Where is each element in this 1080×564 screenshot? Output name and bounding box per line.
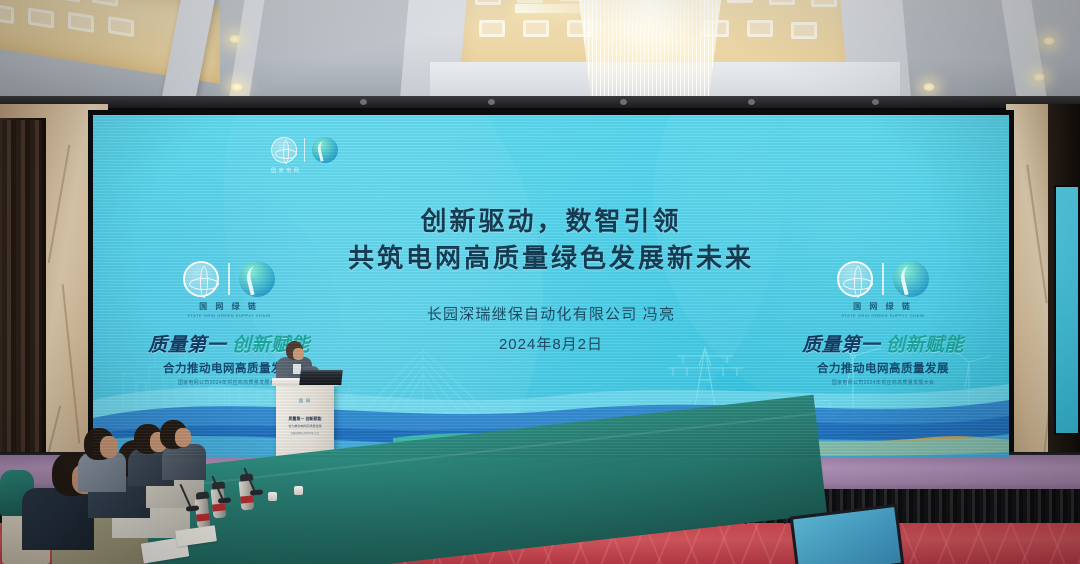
ceiling-rail (0, 96, 1080, 108)
banner-right-headline-part1: 质量第一 (802, 335, 880, 356)
banner-left-mark: 国 网 绿 链 (119, 301, 339, 312)
led-screen: 国 家 电 网 创新驱动，数智引领 共筑电网高质量绿色发展新未来 长园深瑞继保自… (88, 110, 1014, 462)
downlight (922, 82, 936, 92)
state-grid-globe-icon (271, 137, 297, 163)
logo-divider (228, 263, 230, 295)
state-grid-globe-icon (837, 261, 873, 297)
logo-divider (304, 138, 305, 162)
presentation-slide: 国 家 电 网 创新驱动，数智引领 共筑电网高质量绿色发展新未来 长园深瑞继保自… (93, 115, 1009, 457)
banner-left-logos (119, 261, 339, 297)
green-chain-s-icon (893, 261, 929, 297)
slide-title-line-1: 创新驱动，数智引领 (93, 203, 1009, 240)
banner-right-mark-sub: STATE GRID GREEN SUPPLY CHAIN (773, 313, 993, 318)
thermos-cap (196, 491, 210, 499)
state-grid-globe-icon (183, 261, 219, 297)
banner-right: 国 网 绿 链 STATE GRID GREEN SUPPLY CHAIN 质量… (773, 261, 993, 386)
green-chain-s-icon (239, 261, 275, 297)
ceiling (0, 0, 1080, 108)
banner-right-fine-print: 国家电网公司2024年供应商高质量发展大会 (773, 379, 993, 386)
green-chain-s-icon (312, 137, 338, 163)
banner-right-headline: 质量第一 创新赋能 (773, 330, 993, 357)
slide-header-logos (271, 137, 338, 163)
podium-sign: 国 网 质量第一 创新赋能 合力推动电网高质量发展 国家电网公司2024年大会 (284, 398, 326, 435)
downlight (1042, 36, 1056, 46)
teacup (294, 486, 303, 495)
ceiling-beam (1000, 0, 1051, 108)
banner-right-mark: 国 网 绿 链 (773, 301, 993, 312)
presenter-laptop (299, 370, 343, 385)
banner-left-headline-part1: 质量第一 (148, 335, 226, 356)
conference-hall-photo: 国 家 电 网 创新驱动，数智引领 共筑电网高质量绿色发展新未来 长园深瑞继保自… (0, 0, 1080, 564)
chandelier-glow (600, 0, 700, 64)
downlight (1032, 72, 1046, 82)
thermos-cap (240, 473, 254, 481)
podium-title-text: 质量第一 创新赋能 (284, 416, 326, 422)
downlight (230, 82, 244, 92)
speaker-face (293, 348, 304, 360)
podium-sub-text: 合力推动电网高质量发展 (284, 424, 326, 428)
right-screen-panel (1054, 185, 1080, 435)
banner-right-logos (773, 261, 993, 297)
banner-right-headline-part2: 创新赋能 (886, 335, 964, 356)
podium-logo-text: 国 网 (284, 398, 326, 404)
banner-left-mark-sub: STATE GRID GREEN SUPPLY CHAIN (119, 313, 339, 318)
downlight (228, 34, 242, 44)
teacup (268, 492, 277, 501)
ceiling-beam (226, 0, 266, 108)
podium-fine-text: 国家电网公司2024年大会 (284, 431, 326, 435)
banner-right-subhead: 合力推动电网高质量发展 (773, 360, 993, 376)
logo-divider (882, 263, 884, 295)
thermos-cap (212, 481, 226, 489)
banner-left-headline: 质量第一 创新赋能 (119, 330, 339, 357)
slide-header-caption: 国 家 电 网 (271, 167, 299, 174)
